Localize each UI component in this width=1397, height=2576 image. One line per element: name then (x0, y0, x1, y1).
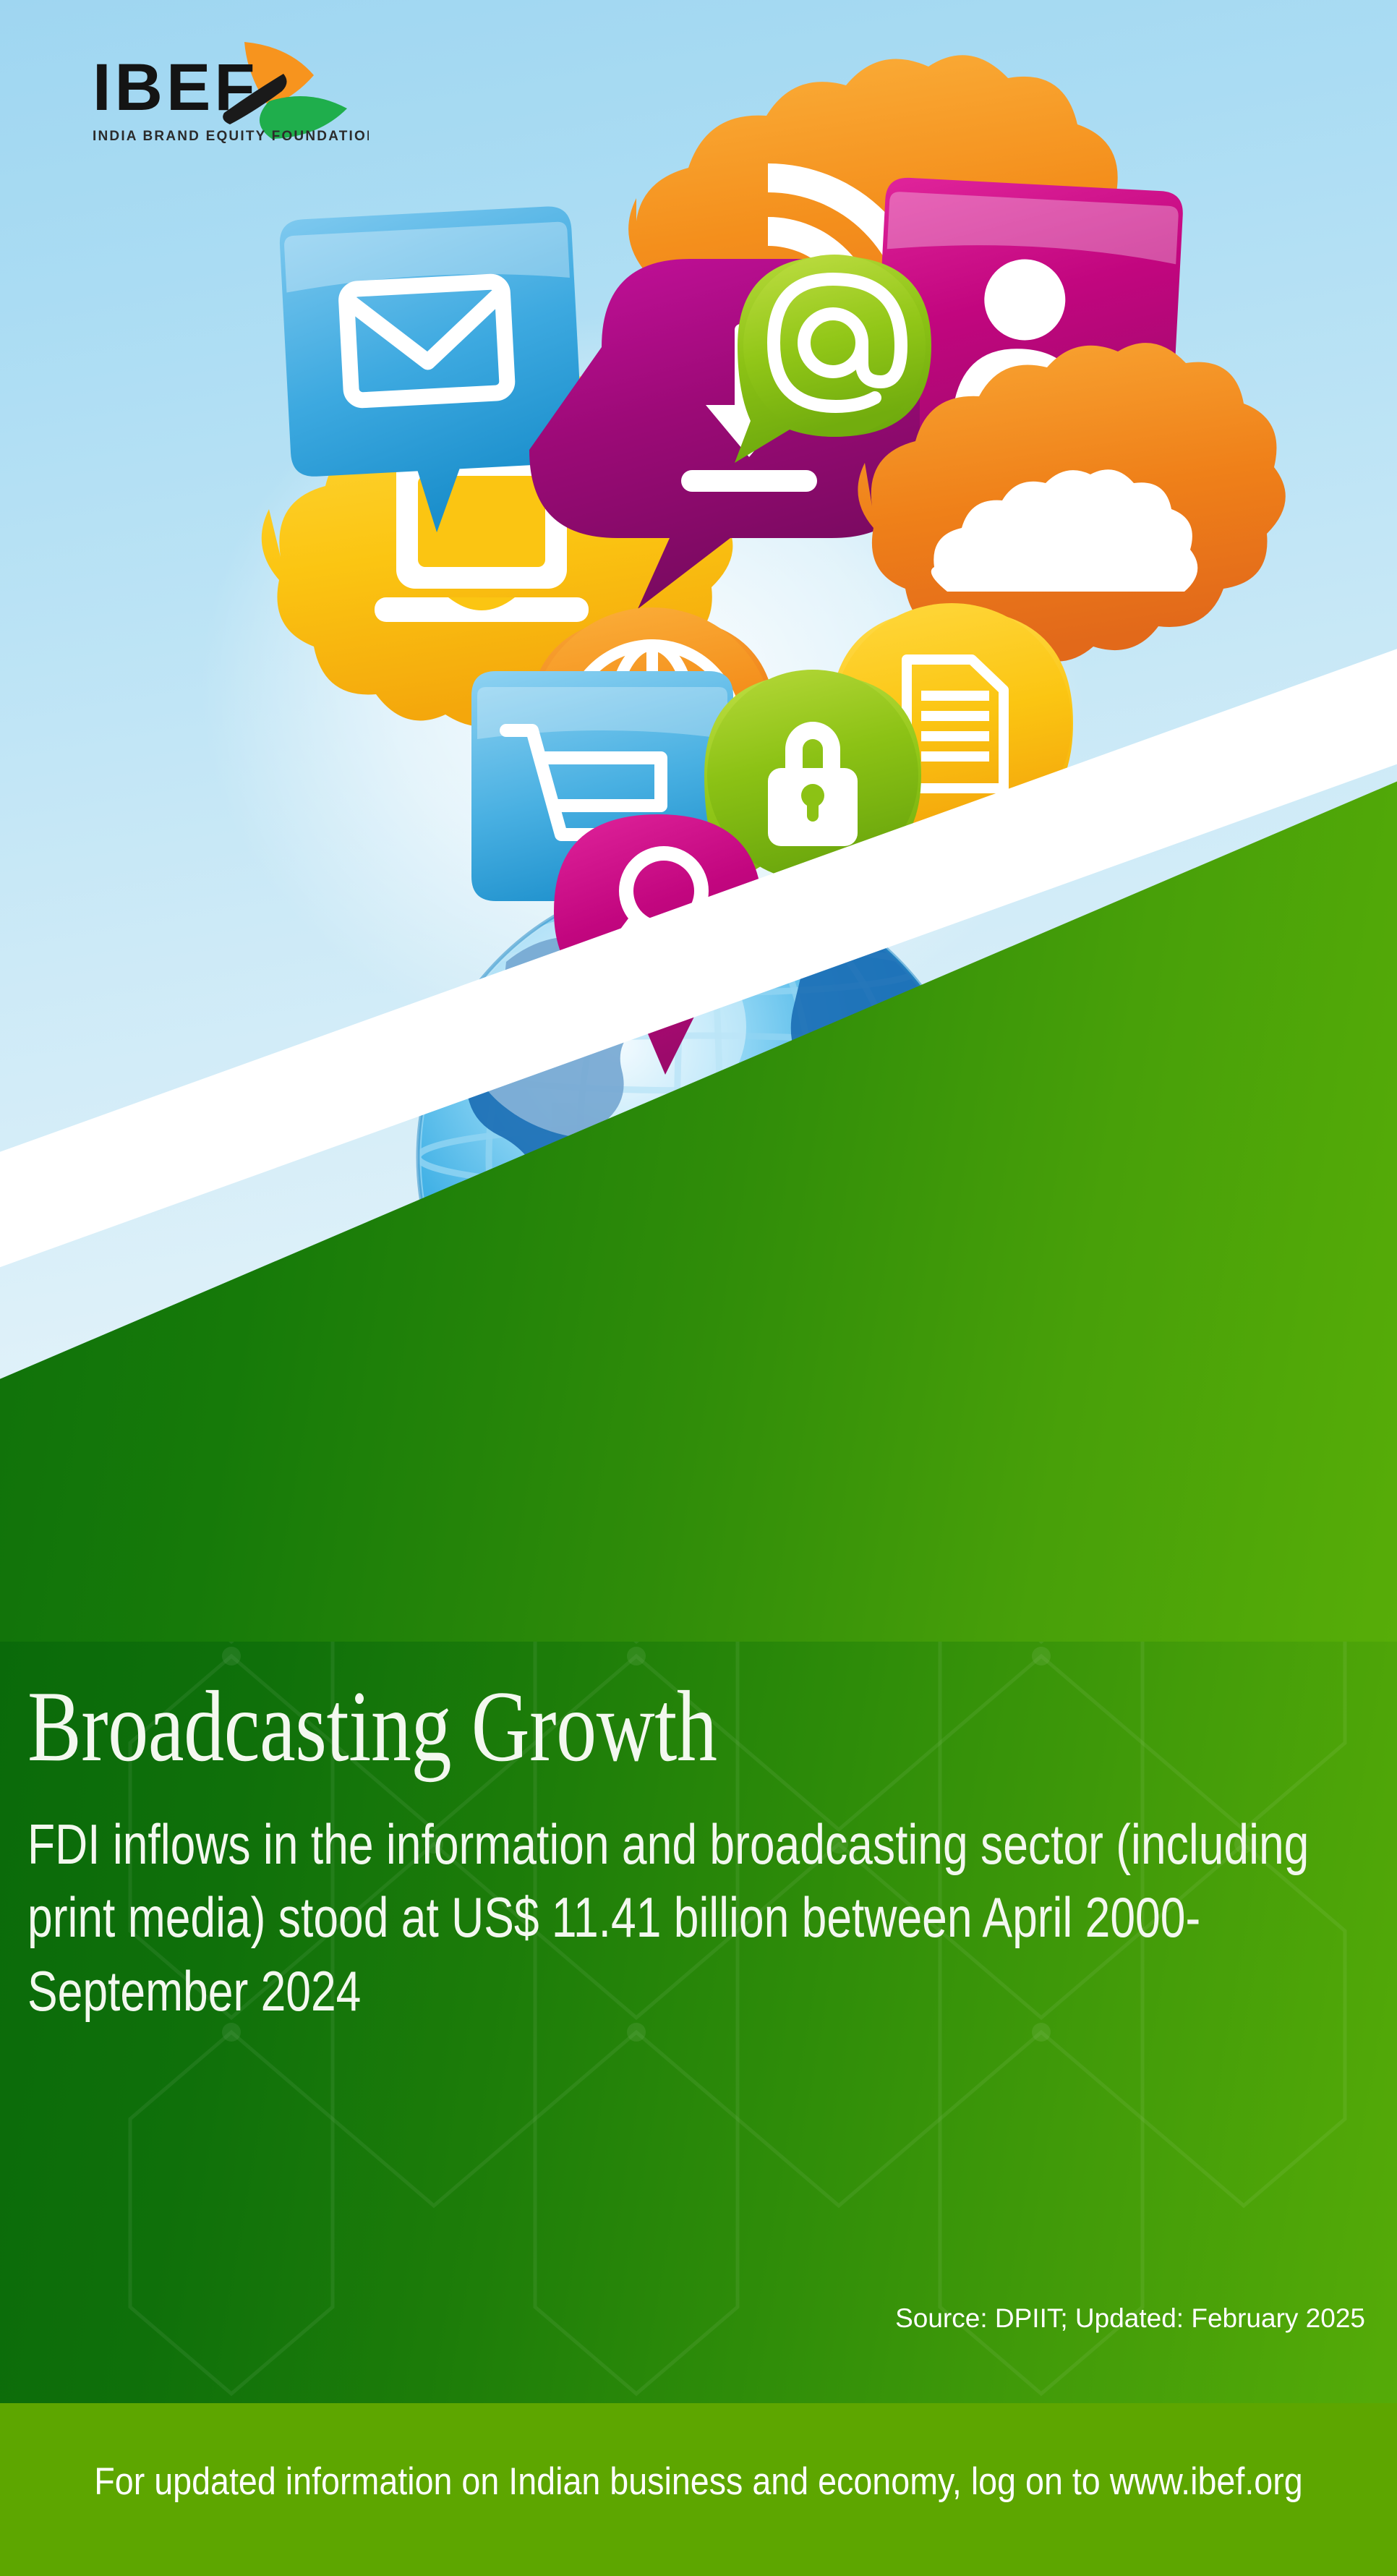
headline-body-text: FDI inflows in the information and broad… (27, 1808, 1370, 2028)
ibef-logo[interactable]: IBEF INDIA BRAND EQUITY FOUNDATION (51, 25, 369, 162)
footer-bar: For updated information on Indian busine… (0, 2403, 1397, 2576)
headline-panel: Broadcasting Growth FDI inflows in the i… (0, 1569, 1397, 2403)
infographic-poster: IBEF INDIA BRAND EQUITY FOUNDATION (0, 0, 1397, 2576)
source-attribution: Source: DPIIT; Updated: February 2025 (895, 2303, 1365, 2334)
page-title: Broadcasting Growth (27, 1676, 717, 1778)
footer-website-text[interactable]: For updated information on Indian busine… (84, 2460, 1313, 2504)
ibef-wordmark: IBEF (93, 51, 259, 124)
ibef-tagline: INDIA BRAND EQUITY FOUNDATION (93, 129, 369, 144)
